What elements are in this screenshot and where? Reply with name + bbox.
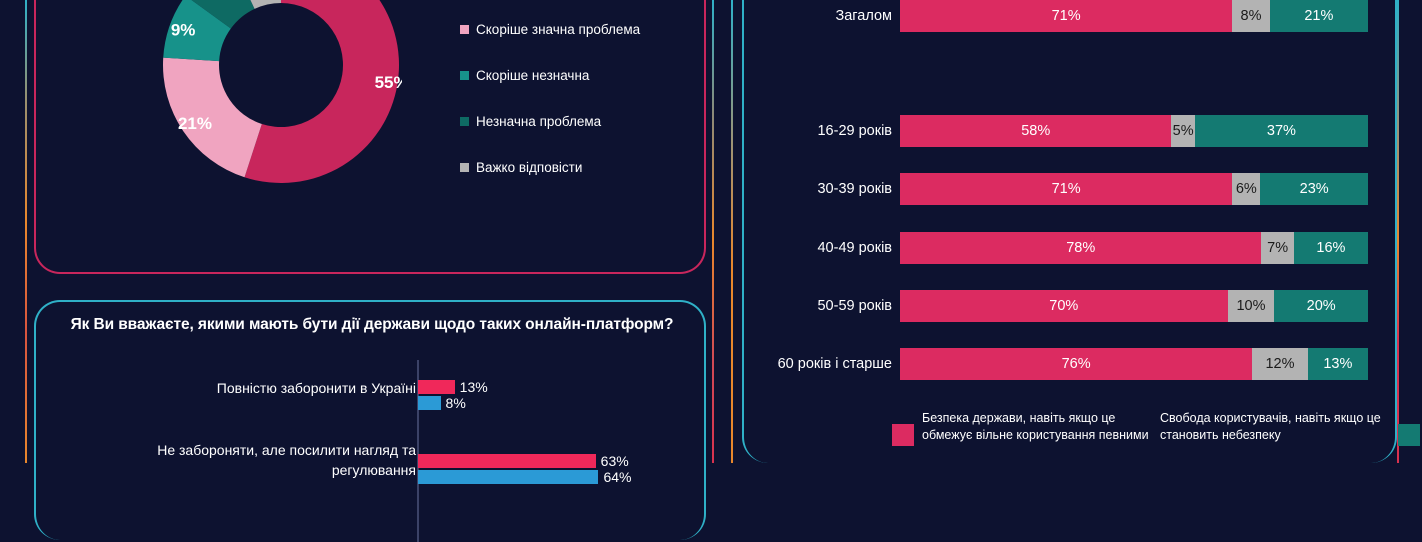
stacked-bar-segment: 20%	[1274, 290, 1368, 322]
gov-bar-label: Повністю заборонити в Україні	[86, 378, 416, 398]
stacked-bar-label: Загалом	[742, 8, 892, 24]
donut-legend-swatch-icon	[460, 25, 469, 34]
gov-bar-fill	[418, 454, 596, 468]
donut-legend-label: Скоріше значна проблема	[476, 22, 640, 37]
stacked-legend: Безпека держави, навіть якщо це обмежує …	[742, 410, 1422, 470]
stacked-bar-segment: 7%	[1261, 232, 1293, 264]
gov-bar-chart: Повністю заборонити в Україні13%8%Не заб…	[36, 360, 708, 542]
accent-rail-mid-b	[731, 0, 733, 463]
donut-slice-label: 9%	[171, 20, 196, 39]
gov-bar-value: 13%	[460, 379, 488, 395]
stacked-bar: 76%12%13%	[900, 348, 1368, 380]
stacked-bar-row: Загалом71%8%21%	[742, 0, 1397, 32]
donut-legend-swatch-icon	[460, 71, 469, 80]
stacked-bar-row: 40-49 років78%7%16%	[742, 232, 1397, 264]
stacked-bar-chart: Загалом71%8%21%16-29 років58%5%37%30-39 …	[742, 0, 1397, 395]
donut-legend-item: Незначна проблема	[460, 98, 730, 144]
stacked-bar-segment: 37%	[1195, 115, 1368, 147]
stacked-bar: 78%7%16%	[900, 232, 1368, 264]
donut-svg: 55%21%9%8%7%	[160, 0, 402, 186]
gov-bar-label: Не забороняти, але посилити нагляд та ре…	[86, 440, 416, 480]
donut-legend-item: Скоріше незначна	[460, 52, 730, 98]
stacked-legend-item-freedom: Свобода користувачів, навіть якщо це ста…	[1160, 410, 1420, 446]
stacked-bar-row: 50-59 років70%10%20%	[742, 290, 1397, 322]
donut-legend-swatch-icon	[460, 117, 469, 126]
donut-legend-item: Скоріше значна проблема	[460, 6, 730, 52]
stacked-bar-segment: 5%	[1171, 115, 1194, 147]
gov-bar-fill	[418, 396, 441, 410]
donut-slice-label: 55%	[375, 73, 402, 92]
donut-legend-item: Важко відповісти	[460, 144, 730, 190]
stacked-bar-segment: 23%	[1260, 173, 1368, 205]
donut-legend-label: Незначна проблема	[476, 114, 601, 129]
stacked-legend-label-security: Безпека держави, навіть якщо це обмежує …	[922, 410, 1152, 443]
gov-bar: 13%	[418, 380, 704, 394]
stacked-legend-item-security: Безпека держави, навіть якщо це обмежує …	[892, 410, 1152, 446]
gov-bar: 8%	[418, 396, 704, 410]
donut-legend-swatch-icon	[460, 163, 469, 172]
stacked-bar: 58%5%37%	[900, 115, 1368, 147]
stacked-bar-segment: 10%	[1228, 290, 1275, 322]
stacked-bar-segment: 70%	[900, 290, 1228, 322]
stacked-legend-label-freedom: Свобода користувачів, навіть якщо це ста…	[1160, 410, 1390, 443]
stacked-bar-row: 60 років і старше76%12%13%	[742, 348, 1397, 380]
stacked-bar: 70%10%20%	[900, 290, 1368, 322]
stacked-bar-label: 16-29 років	[742, 123, 892, 139]
stacked-bar-label: 50-59 років	[742, 298, 892, 314]
gov-card-title: Як Ви вважаєте, якими мають бути дії дер…	[58, 314, 686, 335]
stacked-bar: 71%6%23%	[900, 173, 1368, 205]
stacked-bar-segment: 71%	[900, 173, 1232, 205]
accent-rail-left	[25, 0, 27, 463]
donut-legend-label: Важко відповісти	[476, 160, 582, 175]
stacked-bar-label: 40-49 років	[742, 240, 892, 256]
gov-bar-value: 64%	[603, 469, 631, 485]
stacked-bar-row: 16-29 років58%5%37%	[742, 115, 1397, 147]
donut-legend-label: Скоріше незначна	[476, 68, 589, 83]
stacked-bar-segment: 21%	[1270, 0, 1368, 32]
gov-card: Як Ви вважаєте, якими мають бути дії дер…	[34, 300, 706, 540]
gov-bar: 64%	[418, 470, 704, 484]
accent-rail-right	[1397, 0, 1399, 463]
donut-card: дезінформації та фейків, а також вербува…	[34, 0, 706, 274]
stacked-bar: 71%8%21%	[900, 0, 1368, 32]
security-swatch-icon	[892, 424, 914, 446]
gov-bar: 63%	[418, 454, 704, 468]
gov-bar-value: 63%	[601, 453, 629, 469]
gov-bar-value: 8%	[446, 395, 466, 411]
gov-bar-fill	[418, 380, 455, 394]
stacked-bar-label: 30-39 років	[742, 181, 892, 197]
freedom-swatch-icon	[1398, 424, 1420, 446]
stacked-bar-segment: 71%	[900, 0, 1232, 32]
stacked-bar-segment: 58%	[900, 115, 1171, 147]
stacked-bar-row: 30-39 років71%6%23%	[742, 173, 1397, 205]
stacked-bar-label: 60 років і старше	[742, 356, 892, 372]
gov-bar-fill	[418, 470, 598, 484]
stacked-bar-segment: 13%	[1308, 348, 1368, 380]
gov-bar-group: Повністю заборонити в Україні13%8%	[36, 370, 708, 432]
stacked-bar-segment: 12%	[1252, 348, 1308, 380]
stacked-bar-segment: 6%	[1232, 173, 1260, 205]
donut-legend: Значна проблемаСкоріше значна проблемаСк…	[460, 0, 730, 190]
gov-bar-group: Не забороняти, але посилити нагляд та ре…	[36, 442, 708, 504]
stacked-bar-segment: 8%	[1232, 0, 1269, 32]
donut-slice-label: 21%	[178, 114, 212, 133]
stacked-bar-segment: 78%	[900, 232, 1261, 264]
stacked-bar-segment: 76%	[900, 348, 1252, 380]
stacked-bar-segment: 16%	[1294, 232, 1368, 264]
donut-chart: 55%21%9%8%7%	[160, 0, 402, 186]
